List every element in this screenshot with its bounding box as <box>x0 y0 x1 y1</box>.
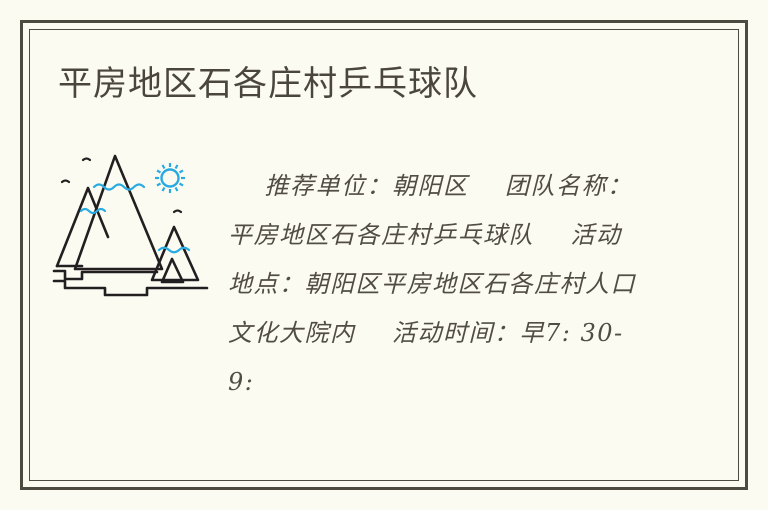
page-title: 平房地区石各庄村乒乓球队 <box>58 62 478 106</box>
snow-wave-center <box>94 185 144 190</box>
mountains-illustration <box>52 140 212 300</box>
info-card: 平房地区石各庄村乒乓球队 <box>0 0 768 510</box>
sun-icon <box>155 163 185 193</box>
bird-2 <box>62 181 69 183</box>
bird-3 <box>174 211 181 213</box>
center-peak-shape <box>75 156 162 269</box>
right-peak-shape <box>152 227 198 280</box>
tent-shape <box>162 259 183 282</box>
bird-1 <box>83 159 90 161</box>
ground-lines <box>54 271 207 295</box>
snow-waves <box>81 185 189 253</box>
details-text: 推荐单位：朝阳区 团队名称：平房地区石各庄村乒乓球队 活动地点：朝阳区平房地区石… <box>228 162 646 407</box>
snow-wave-left <box>81 209 105 213</box>
